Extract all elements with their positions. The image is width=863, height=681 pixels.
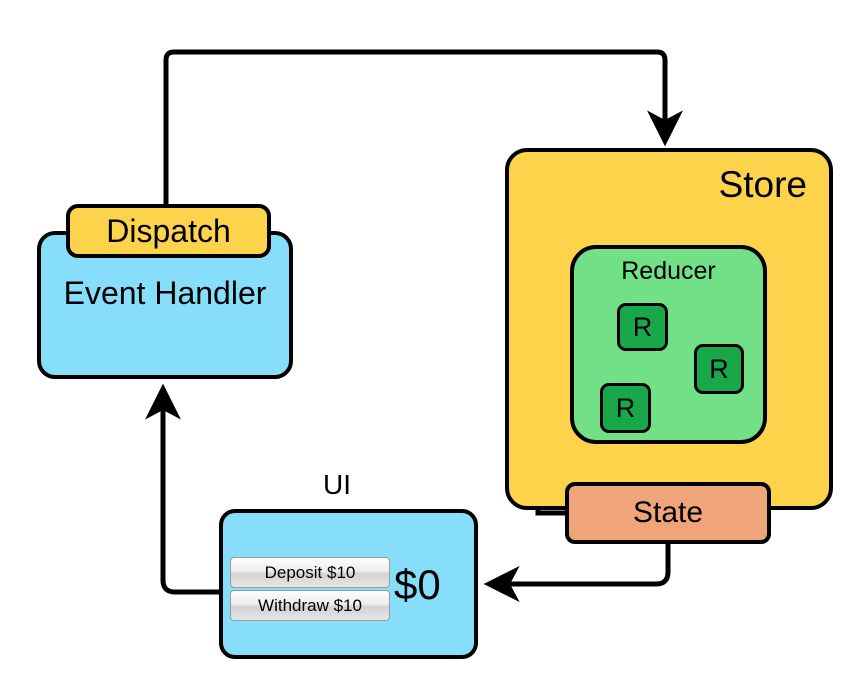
state-node[interactable]: State: [565, 482, 771, 544]
deposit-button[interactable]: Deposit $10: [230, 557, 390, 588]
ui-caption: UI: [323, 471, 351, 499]
diagram-canvas: Store Reducer R R R State Event Handler …: [0, 0, 863, 681]
dispatch-node[interactable]: Dispatch: [66, 204, 271, 258]
reducer-label: Reducer: [621, 249, 716, 284]
reducer-item-1[interactable]: R: [617, 303, 668, 351]
edge-ui-to-event-handler: [163, 392, 219, 592]
reducer-item-3[interactable]: R: [600, 383, 651, 433]
edge-state-to-ui: [492, 544, 668, 584]
store-label: Store: [719, 152, 829, 203]
withdraw-button[interactable]: Withdraw $10: [230, 590, 390, 621]
event-handler-label: Event Handler: [64, 277, 267, 309]
reducer-item-2[interactable]: R: [694, 344, 744, 394]
balance-display: $0: [394, 553, 466, 617]
